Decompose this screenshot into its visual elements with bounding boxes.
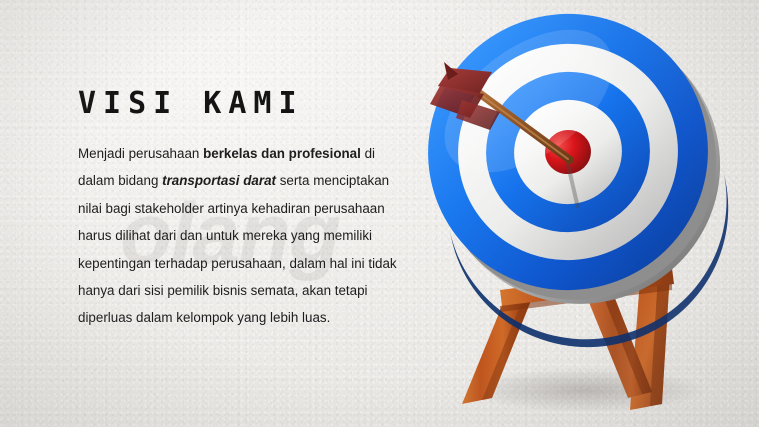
body-segment-4: serta menciptakan nilai bagi stakeholder… bbox=[78, 173, 397, 325]
vision-body-text: Menjadi perusahaan berkelas dan profesio… bbox=[78, 140, 413, 332]
slide-canvas: olang bbox=[0, 0, 759, 427]
target-disc bbox=[401, 0, 755, 375]
target-illustration bbox=[400, 0, 759, 427]
body-segment-1: berkelas dan profesional bbox=[203, 146, 361, 161]
body-segment-0: Menjadi perusahaan bbox=[78, 146, 203, 161]
body-segment-3: transportasi darat bbox=[162, 173, 276, 188]
page-title: VISI KAMI bbox=[78, 86, 304, 121]
